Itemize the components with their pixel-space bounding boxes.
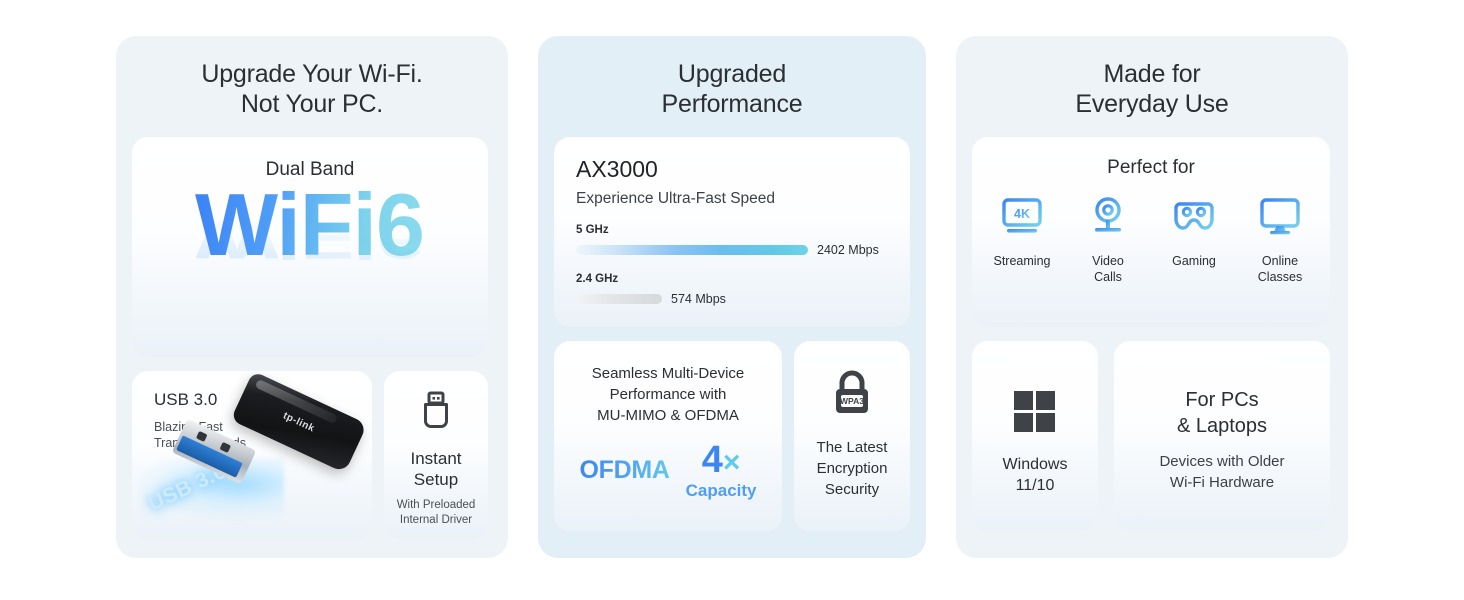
panel-b-title: Upgraded Performance <box>554 36 910 119</box>
use-label-gaming-line1: Gaming <box>1163 253 1225 269</box>
mimo-text-line3: MU-MIMO & OFDMA <box>554 405 782 426</box>
pcs-title-line2: & Laptops <box>1114 413 1330 439</box>
capacity-label: Capacity <box>686 481 757 501</box>
wifi6-logo: WiFi6 WiFi6 <box>132 177 488 327</box>
band-label-24ghz: 2.4 GHz <box>554 257 910 285</box>
wifi6-word: WiFi <box>195 175 376 274</box>
use-label-online-classes: Online Classes <box>1249 253 1311 285</box>
capacity-number-row: 4× <box>686 440 757 483</box>
panel-a-title-line2: Not Your PC. <box>132 89 492 119</box>
usb3-subtitle: Blazing Fast Transfer Speeds <box>132 410 372 451</box>
windows-label-line1: Windows <box>972 454 1098 475</box>
band-value-5ghz: 2402 Mbps <box>817 243 879 257</box>
capacity-multiply-icon: × <box>723 446 741 479</box>
band-row-5ghz: 2402 Mbps <box>554 243 910 257</box>
panel-c-title: Made for Everyday Use <box>972 36 1332 119</box>
ofdma-label: OFDMA <box>579 440 669 485</box>
band-bar-5ghz <box>576 245 808 255</box>
use-label-streaming: Streaming <box>991 253 1053 269</box>
infographic-root: Upgrade Your Wi-Fi. Not Your PC. Dual Ba… <box>0 0 1464 600</box>
use-label-video-line1: Video <box>1077 253 1139 269</box>
panel-c-title-line2: Everyday Use <box>972 89 1332 119</box>
panel-upgraded-performance: Upgraded Performance AX3000 Experience U… <box>538 36 926 558</box>
windows-logo-icon <box>972 341 1098 440</box>
wpa3-text: The Latest Encryption Security <box>794 423 910 500</box>
dual-band-wifi6-card: Dual Band WiFi6 WiFi6 <box>132 137 488 357</box>
instant-title-line2: Setup <box>384 469 488 490</box>
gamepad-icon <box>1171 226 1217 243</box>
ax3000-subtitle: Experience Ultra-Fast Speed <box>554 183 910 208</box>
windows-support-card: Windows 11/10 <box>972 341 1098 531</box>
use-item-gaming: Gaming <box>1163 195 1225 285</box>
band-bar-24ghz <box>576 294 662 304</box>
usb-glow <box>134 459 284 521</box>
mu-mimo-ofdma-card: Seamless Multi-Device Performance with M… <box>554 341 782 531</box>
use-label-video-calls: Video Calls <box>1077 253 1139 285</box>
usb3-sub-line2: Transfer Speeds <box>154 435 372 451</box>
webcam-icon <box>1085 226 1131 243</box>
panel-b-title-line1: Upgraded <box>554 59 910 89</box>
use-label-streaming-line1: Streaming <box>991 253 1053 269</box>
band-value-24ghz: 574 Mbps <box>671 292 726 306</box>
tv-4k-icon: 4K <box>999 226 1045 243</box>
monitor-icon <box>1257 226 1303 243</box>
instant-setup-title: Instant Setup <box>384 436 488 490</box>
mimo-text-line2: Performance with <box>554 384 782 405</box>
padlock-wpa3-icon: WPA3 <box>794 341 910 423</box>
windows-label-line2: 11/10 <box>972 475 1098 496</box>
panel-a-title: Upgrade Your Wi-Fi. Not Your PC. <box>132 36 492 119</box>
panel-a-title-line1: Upgrade Your Wi-Fi. <box>132 59 492 89</box>
perfect-for-title: Perfect for <box>972 137 1330 179</box>
wifi6-number: 6 <box>376 175 425 274</box>
pcs-title: For PCs & Laptops <box>1114 341 1330 439</box>
pcs-laptops-card: For PCs & Laptops Devices with Older Wi-… <box>1114 341 1330 531</box>
use-label-online-line2: Classes <box>1249 269 1311 285</box>
use-item-online-classes: Online Classes <box>1249 195 1311 285</box>
instant-sub-line2: Internal Driver <box>384 513 488 528</box>
use-label-video-line2: Calls <box>1077 269 1139 285</box>
instant-setup-sub: With Preloaded Internal Driver <box>384 490 488 528</box>
panel-b-title-line2: Performance <box>554 89 910 119</box>
use-item-streaming: 4K Streaming <box>991 195 1053 285</box>
ax3000-title: AX3000 <box>554 137 910 183</box>
wpa3-text-line2: Encryption <box>794 458 910 479</box>
wpa3-text-line3: Security <box>794 479 910 500</box>
svg-text:WPA3: WPA3 <box>840 396 864 406</box>
mimo-text-line1: Seamless Multi-Device <box>554 363 782 384</box>
panel-c-title-line1: Made for <box>972 59 1332 89</box>
panel-upgrade-wifi: Upgrade Your Wi-Fi. Not Your PC. Dual Ba… <box>116 36 508 558</box>
instant-setup-card: Instant Setup With Preloaded Internal Dr… <box>384 371 488 539</box>
usb3-sub-line1: Blazing Fast <box>154 419 372 435</box>
windows-label: Windows 11/10 <box>972 440 1098 496</box>
usb3-card: USB 3.0 Blazing Fast Transfer Speeds USB… <box>132 371 372 539</box>
panel-everyday-use: Made for Everyday Use Perfect for 4K <box>956 36 1348 558</box>
pcs-title-line1: For PCs <box>1114 387 1330 413</box>
use-label-online-line1: Online <box>1249 253 1311 269</box>
svg-text:4K: 4K <box>1014 207 1030 221</box>
usb-flash-drive-icon <box>384 371 488 436</box>
usb3-title: USB 3.0 <box>132 371 372 410</box>
capacity-number: 4 <box>702 439 723 481</box>
ax3000-speed-card: AX3000 Experience Ultra-Fast Speed 5 GHz… <box>554 137 910 327</box>
perfect-for-card: Perfect for 4K Stream <box>972 137 1330 327</box>
pcs-sub-line1: Devices with Older <box>1114 451 1330 472</box>
instant-title-line1: Instant <box>384 448 488 469</box>
pcs-subtitle: Devices with Older Wi-Fi Hardware <box>1114 439 1330 493</box>
mimo-text: Seamless Multi-Device Performance with M… <box>554 341 782 426</box>
band-label-5ghz: 5 GHz <box>554 208 910 236</box>
usb-glow-text: USB 3.0 <box>145 460 230 517</box>
wpa3-text-line1: The Latest <box>794 437 910 458</box>
use-item-video-calls: Video Calls <box>1077 195 1139 285</box>
instant-sub-line1: With Preloaded <box>384 498 488 513</box>
band-row-24ghz: 574 Mbps <box>554 292 910 306</box>
use-label-gaming: Gaming <box>1163 253 1225 269</box>
wpa3-security-card: WPA3 The Latest Encryption Security <box>794 341 910 531</box>
pcs-sub-line2: Wi-Fi Hardware <box>1114 472 1330 493</box>
capacity-block: 4× Capacity <box>686 440 757 501</box>
